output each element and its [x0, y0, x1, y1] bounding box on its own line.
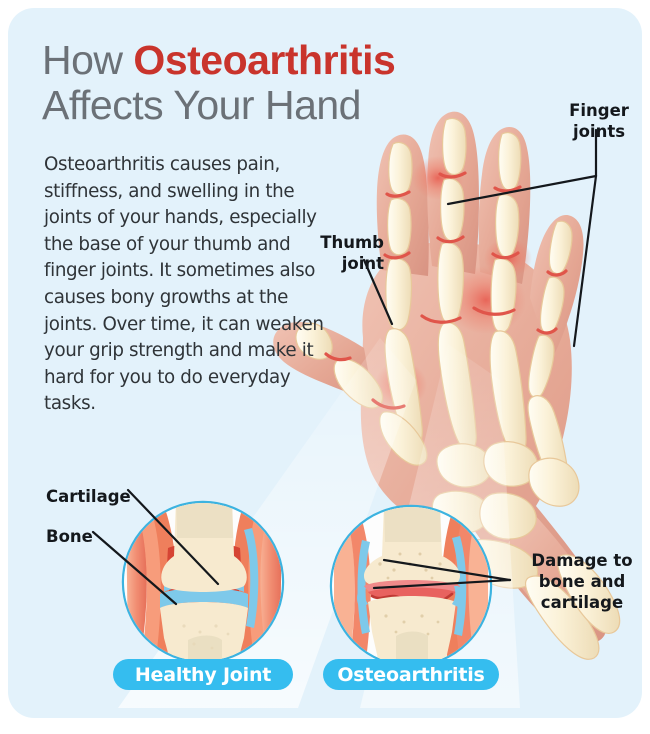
badge-healthy-joint: Healthy Joint [113, 659, 293, 690]
callout-bone: Bone [46, 526, 166, 547]
callout-thumb-joint: Thumb joint [300, 232, 384, 274]
callout-damage: Damage to bone and cartilage [516, 550, 642, 613]
callout-finger-joints: Finger joints [553, 100, 642, 142]
infographic-card: How Osteoarthritis Affects Your Hand Ost… [8, 8, 642, 718]
body-paragraph: Osteoarthritis causes pain, stiffness, a… [44, 152, 329, 418]
title-highlight: Osteoarthritis [133, 37, 395, 83]
title-line2: Affects Your Hand [42, 82, 361, 128]
title-prefix: How [42, 37, 133, 83]
badge-osteoarthritis: Osteoarthritis [323, 659, 499, 690]
page-title: How Osteoarthritis Affects Your Hand [42, 38, 472, 128]
callout-cartilage: Cartilage [46, 486, 166, 507]
